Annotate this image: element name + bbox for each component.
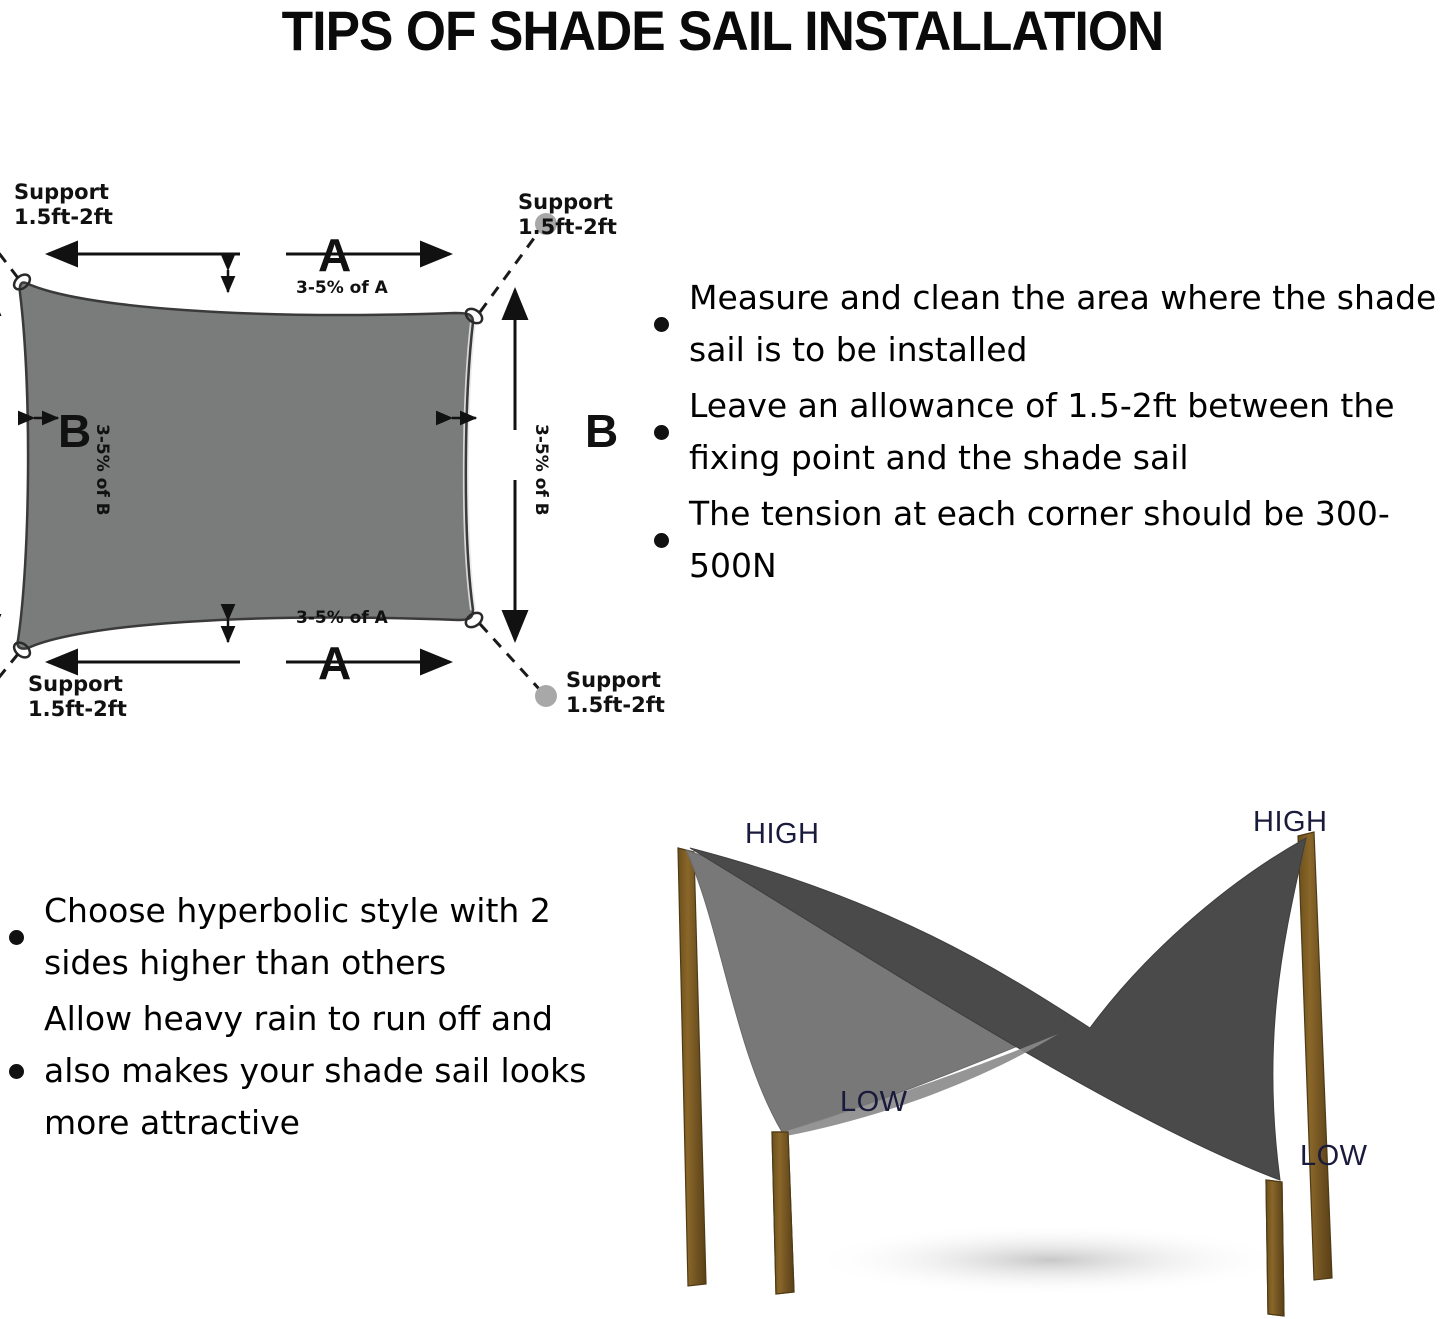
installation-tips-list-right: Measure and clean the area where the sha… bbox=[645, 272, 1445, 596]
support-label-bottom-left: Support 1.5ft-2ft bbox=[28, 672, 127, 722]
curvature-label-top: 3-5% of A bbox=[296, 278, 388, 298]
list-item: Choose hyperbolic style with 2 sides hig… bbox=[0, 885, 630, 989]
label-high-right: HIGH bbox=[1253, 806, 1328, 839]
list-item: Allow heavy rain to run off and also mak… bbox=[0, 993, 630, 1149]
curvature-label-bottom: 3-5% of A bbox=[296, 608, 388, 628]
dimension-letter-a-bottom: A bbox=[318, 640, 351, 686]
support-label-top-right: Support 1.5ft-2ft bbox=[518, 190, 617, 240]
curvature-label-right: 3-5% of B bbox=[531, 424, 551, 516]
anchor-line-top-right bbox=[480, 230, 540, 312]
dimension-letter-b-left: B bbox=[58, 408, 91, 454]
sail-shape bbox=[17, 282, 473, 648]
support-dot-bottom-right bbox=[535, 685, 557, 707]
anchor-line-bottom-right bbox=[480, 624, 540, 690]
post-high-left bbox=[678, 848, 706, 1286]
curvature-label-left: 3-5% of B bbox=[92, 424, 112, 516]
label-low-left: LOW bbox=[840, 1086, 908, 1119]
ground-shadow bbox=[810, 1224, 1290, 1296]
list-item: Measure and clean the area where the sha… bbox=[645, 272, 1445, 376]
label-high-left: HIGH bbox=[745, 818, 820, 851]
support-label-bottom-right: Support 1.5ft-2ft bbox=[566, 668, 665, 718]
anchor-line-bottom-left bbox=[0, 654, 18, 708]
dimension-letter-a-top: A bbox=[318, 232, 351, 278]
list-item: Leave an allowance of 1.5-2ft between th… bbox=[645, 380, 1445, 484]
list-item: The tension at each corner should be 300… bbox=[645, 488, 1445, 592]
page-title: TIPS OF SHADE SAIL INSTALLATION bbox=[58, 0, 1387, 62]
label-low-right: LOW bbox=[1300, 1140, 1368, 1173]
installation-tips-list-left: Choose hyperbolic style with 2 sides hig… bbox=[0, 885, 630, 1153]
post-high-right bbox=[1298, 832, 1332, 1280]
hyperbolic-sail-diagram bbox=[660, 780, 1445, 1319]
post-low-right-front bbox=[1266, 1180, 1284, 1316]
support-label-top-left: Support 1.5ft-2ft bbox=[14, 180, 113, 230]
sail-fabric bbox=[17, 282, 473, 648]
post-low-left-front bbox=[772, 1132, 794, 1294]
dimension-letter-b-right: B bbox=[585, 408, 618, 454]
